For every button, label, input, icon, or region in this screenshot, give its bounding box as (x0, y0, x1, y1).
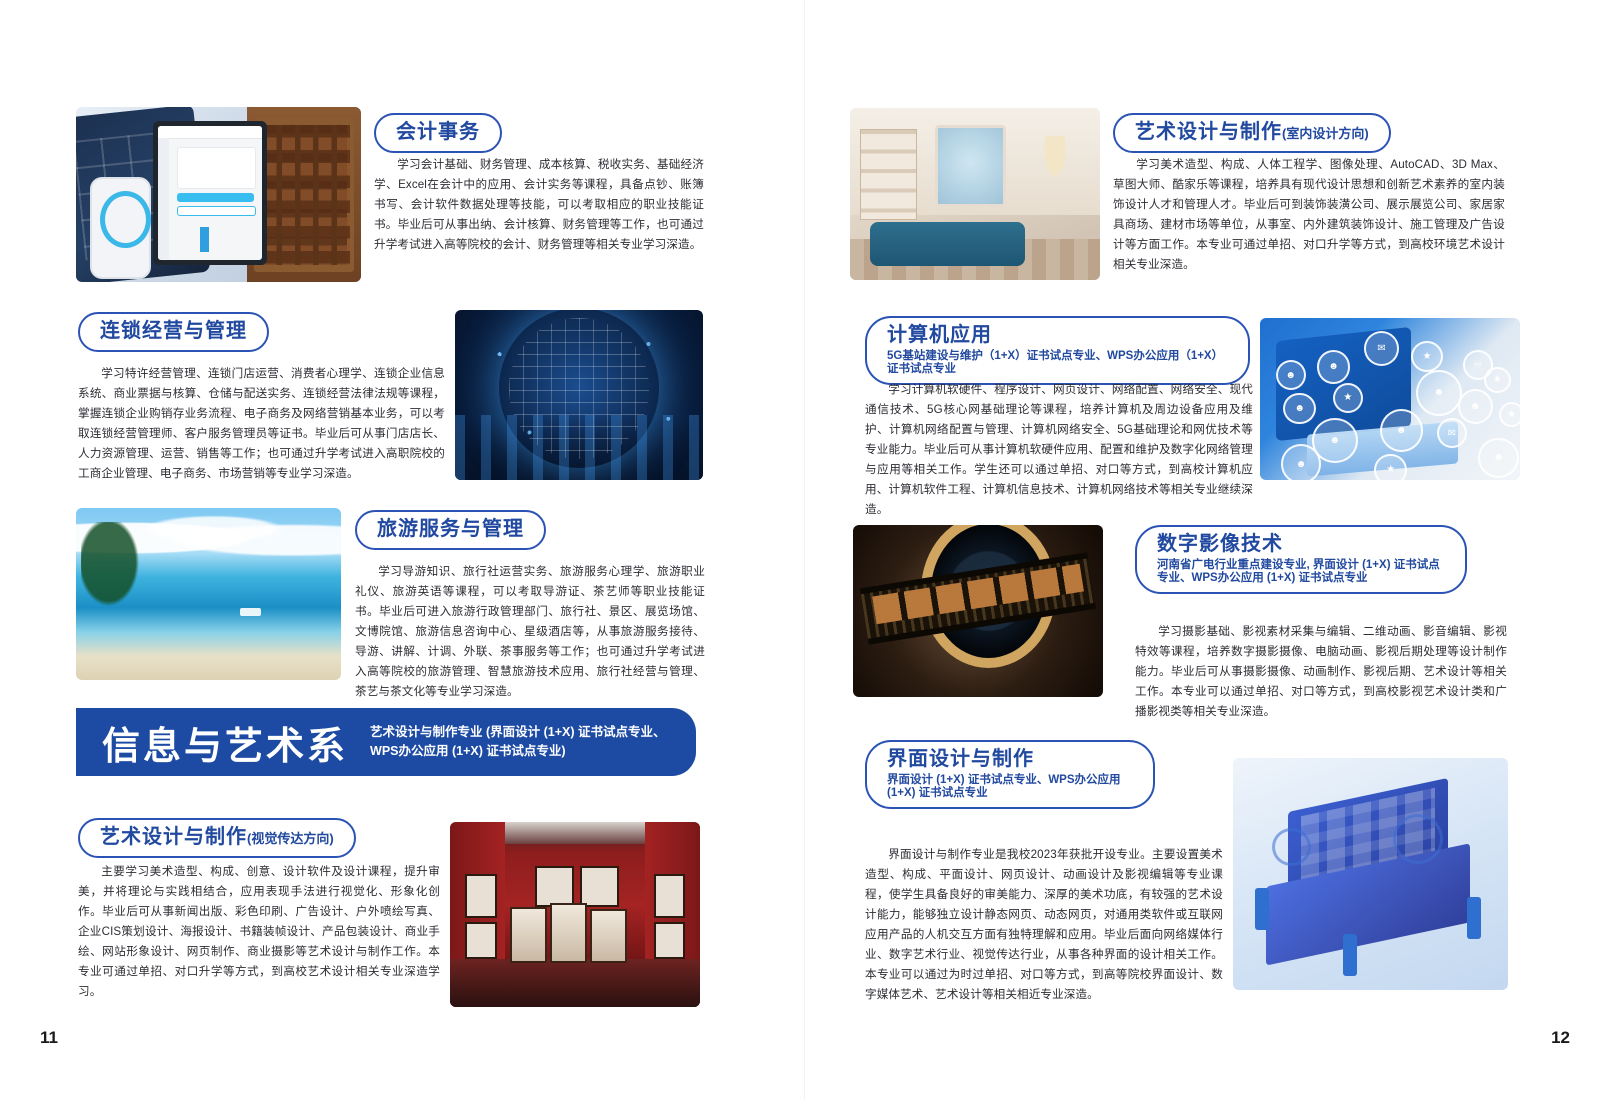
beach-photo (76, 508, 341, 680)
section-body-visual-art: 主要学习美术造型、构成、创意、设计软件及设计课程，提升审美，并将理论与实践相结合… (78, 862, 440, 1002)
section-title-interior-design[interactable]: 艺术设计与制作(室内设计方向) (1113, 113, 1391, 153)
department-subtitle-line2: WPS办公应用 (1+X) 证书试点专业) (370, 742, 666, 761)
section-body-ui-design: 界面设计与制作专业是我校2023年获批开设专业。主要设置美术造型、构成、平面设计… (865, 845, 1223, 1005)
section-body-interior-design: 学习美术造型、构成、人体工程学、图像处理、AutoCAD、3D Max、草图大师… (1113, 155, 1505, 275)
section-cert-digital-imaging: 河南省广电行业重点建设专业, 界面设计 (1+X) 证书试点专业、WPS办公应用… (1157, 559, 1445, 585)
section-title-tourism[interactable]: 旅游服务与管理 (355, 510, 546, 550)
left-page: 会计事务 学习会计基础、财务管理、成本核算、税收实务、基础经济学、Excel在会… (0, 0, 805, 1100)
department-subtitle: 艺术设计与制作专业 (界面设计 (1+X) 证书试点专业、 WPS办公应用 (1… (370, 723, 666, 762)
section-cert-computer-application: 5G基站建设与维护（1+X）证书试点专业、WPS办公应用（1+X）证书试点专业 (887, 350, 1228, 376)
section-body-computer-application: 学习计算机软硬件、程序设计、网页设计、网络配置、网络安全、现代通信技术、5G核心… (865, 380, 1253, 520)
page-number-left: 11 (40, 1028, 58, 1048)
department-banner: 信息与艺术系 艺术设计与制作专业 (界面设计 (1+X) 证书试点专业、 WPS… (76, 708, 696, 776)
section-body-chain-operation: 学习特许经营管理、连锁门店运营、消费者心理学、连锁企业信息系统、商业票据与核算、… (78, 364, 445, 484)
section-title-chain-operation[interactable]: 连锁经营与管理 (78, 312, 269, 352)
section-title-accounting[interactable]: 会计事务 (374, 113, 502, 153)
film-reel-photo (853, 525, 1103, 697)
gallery-photo (450, 822, 700, 1007)
social-network-photo: ☻ ☻ ✉ ★ ☻ ☻ ☻ ☻ ★ ★ ☻ ♾ ☻ ★ ✉ (1260, 318, 1520, 480)
section-cert-ui-design: 界面设计 (1+X) 证书试点专业、WPS办公应用 (1+X) 证书试点专业 (887, 774, 1133, 800)
accounting-photo (76, 107, 361, 282)
section-title-ui-design[interactable]: 界面设计与制作 界面设计 (1+X) 证书试点专业、WPS办公应用 (1+X) … (865, 740, 1155, 809)
section-title-computer-application[interactable]: 计算机应用 5G基站建设与维护（1+X）证书试点专业、WPS办公应用（1+X）证… (865, 316, 1250, 385)
department-name: 信息与艺术系 (102, 715, 348, 770)
section-title-digital-imaging[interactable]: 数字影像技术 河南省广电行业重点建设专业, 界面设计 (1+X) 证书试点专业、… (1135, 525, 1467, 594)
section-body-digital-imaging: 学习摄影基础、影视素材采集与编辑、二维动画、影音编辑、影视特效等课程，培养数字摄… (1135, 622, 1507, 722)
isometric-ui-photo (1233, 758, 1508, 990)
interior-photo (850, 108, 1100, 280)
section-body-accounting: 学习会计基础、财务管理、成本核算、税收实务、基础经济学、Excel在会计中的应用… (374, 155, 704, 255)
section-title-visual-art[interactable]: 艺术设计与制作(视觉传达方向) (78, 818, 356, 858)
globe-network-photo (455, 310, 703, 480)
department-subtitle-line1: 艺术设计与制作专业 (界面设计 (1+X) 证书试点专业、 (370, 723, 666, 742)
right-page: 艺术设计与制作(室内设计方向) 学习美术造型、构成、人体工程学、图像处理、Aut… (805, 0, 1610, 1100)
page-number-right: 12 (1551, 1028, 1570, 1048)
section-body-tourism: 学习导游知识、旅行社运营实务、旅游服务心理学、旅游职业礼仪、旅游英语等课程，可以… (355, 562, 705, 702)
brochure-spread: 会计事务 学习会计基础、财务管理、成本核算、税收实务、基础经济学、Excel在会… (0, 0, 1610, 1100)
